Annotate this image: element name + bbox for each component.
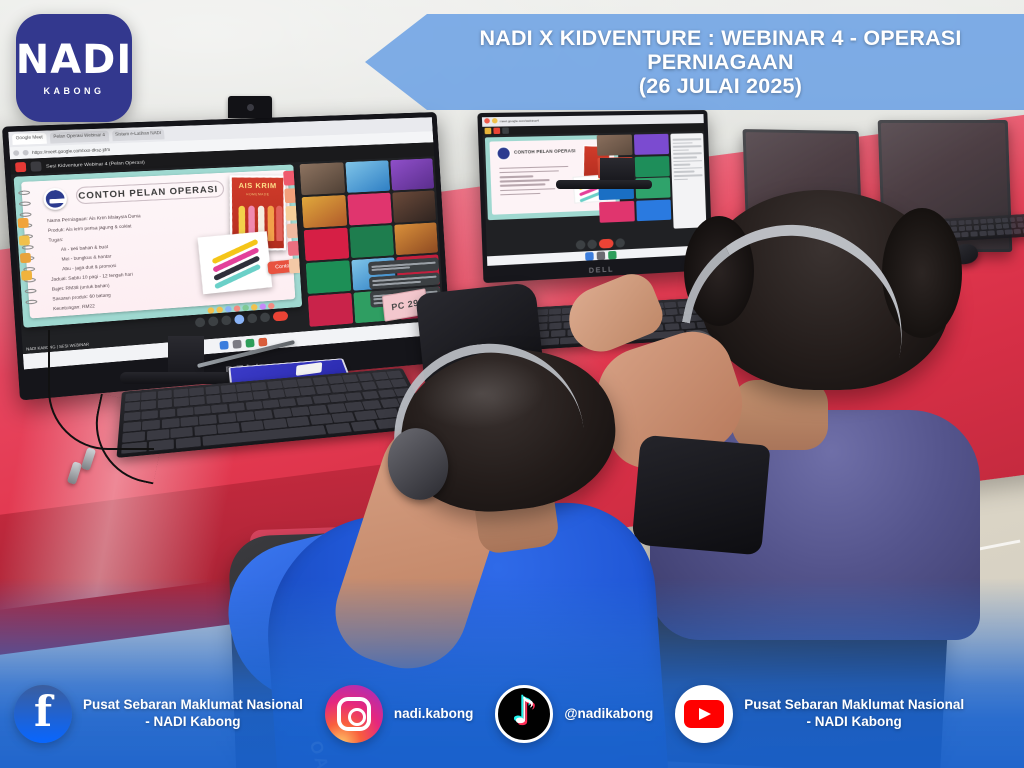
slide-line: Produk: Ais krim perisa jagung & coklat [48, 223, 132, 233]
social-tiktok[interactable]: ♪ @nadikabong [495, 685, 653, 743]
browser-tab[interactable]: Google Meet [12, 133, 47, 145]
youtube-label: Pusat Sebaran Maklumat Nasional - NADI K… [744, 697, 964, 731]
nadi-badge-icon [496, 146, 511, 160]
logo-name: NADI [16, 40, 133, 80]
participant-tile[interactable] [302, 195, 348, 228]
monitor-stand-left [168, 336, 204, 376]
poster-subtitle: HOMEMADE [232, 192, 284, 196]
social-instagram[interactable]: nadi.kabong [325, 685, 474, 743]
photograph: meet.google.com/webinar4 CONTOH P [0, 0, 1024, 768]
instagram-label: nadi.kabong [394, 706, 474, 723]
browser-tab[interactable]: Pelan Operasi Webinar 4 [50, 131, 109, 144]
participant-tile[interactable] [306, 260, 352, 294]
facebook-label: Pusat Sebaran Maklumat Nasional - NADI K… [83, 697, 303, 731]
webcam-icon [228, 96, 272, 118]
logo-sub: KABONG [44, 86, 105, 96]
participant-tile[interactable] [394, 222, 438, 255]
meet-session-title: Sesi Kidventure Webinar 4 (Pelan Operasi… [46, 159, 145, 169]
participant-tile[interactable] [390, 158, 434, 190]
participant-tile[interactable] [347, 193, 392, 226]
social-facebook[interactable]: f Pusat Sebaran Maklumat Nasional - NADI… [14, 685, 303, 743]
slide-line: Mei - bungkus & hantar [61, 253, 111, 261]
tiktok-icon[interactable]: ♪ [495, 685, 553, 743]
slide-line: Nama Perniagaan: Ais Krim Malaysia Dunia [47, 213, 141, 223]
youtube-icon[interactable] [675, 685, 733, 743]
social-youtube[interactable]: Pusat Sebaran Maklumat Nasional - NADI K… [675, 685, 964, 743]
header-banner: NADI X KIDVENTURE : WEBINAR 4 - OPERASI … [365, 14, 1024, 110]
page-title-line1: NADI X KIDVENTURE : WEBINAR 4 - OPERASI [479, 26, 961, 50]
participant-tile[interactable] [349, 225, 394, 258]
slide-line: Bajet: RM38 (untuk bahan) [52, 283, 110, 292]
browser-url-left[interactable]: https://meet.google.com/xxx-dksz-jdm [32, 147, 110, 155]
nadi-logo: NADI KABONG [16, 14, 132, 122]
social-bar: f Pusat Sebaran Maklumat Nasional - NADI… [0, 660, 1024, 768]
slide-title-middle: CONTOH PELAN OPERASI [514, 148, 576, 155]
participant-tile[interactable] [345, 160, 390, 193]
participant-tile[interactable] [308, 293, 353, 327]
browser-url-middle[interactable]: meet.google.com/webinar4 [500, 118, 539, 123]
student-right-neck [732, 380, 828, 450]
product-photo [198, 231, 273, 294]
page-title: NADI X KIDVENTURE : WEBINAR 4 - OPERASI … [409, 26, 979, 98]
browser-tab[interactable]: Sistem e-Latihan NADI [111, 129, 164, 142]
slide-line: Sasaran produk: 60 batang [52, 292, 111, 301]
participant-tile[interactable] [300, 162, 346, 195]
slide-line: Ali - beli bahan & buat [61, 244, 109, 252]
monitor-base-middle [556, 180, 652, 189]
page-title-line3: (26 JULAI 2025) [479, 74, 961, 98]
participant-tile[interactable] [304, 228, 350, 261]
slide-line: Abu - jaga duit & promosi [62, 263, 116, 272]
slide-line: Keuntungan: RM22 [53, 303, 95, 311]
slide-line: Tugas: [48, 237, 63, 243]
nadi-badge-icon [43, 188, 68, 211]
poster-title: AIS KRIM [232, 183, 284, 190]
monitor-stand-middle [600, 158, 634, 182]
participant-tile[interactable] [392, 190, 436, 222]
slide-line: Jadual: Sabtu 10 pagi - 12 tengah hari [51, 271, 133, 282]
slide-card: CONTOH PELAN OPERASI Nama Perniagaan: Ai… [21, 170, 295, 319]
facebook-icon[interactable]: f [14, 685, 72, 743]
page-title-line2: PERNIAGAAN [479, 50, 961, 74]
poster-canvas: meet.google.com/webinar4 CONTOH P [0, 0, 1024, 768]
instagram-icon[interactable] [325, 685, 383, 743]
tiktok-label: @nadikabong [564, 706, 653, 723]
meet-controls-middle[interactable] [576, 238, 625, 250]
